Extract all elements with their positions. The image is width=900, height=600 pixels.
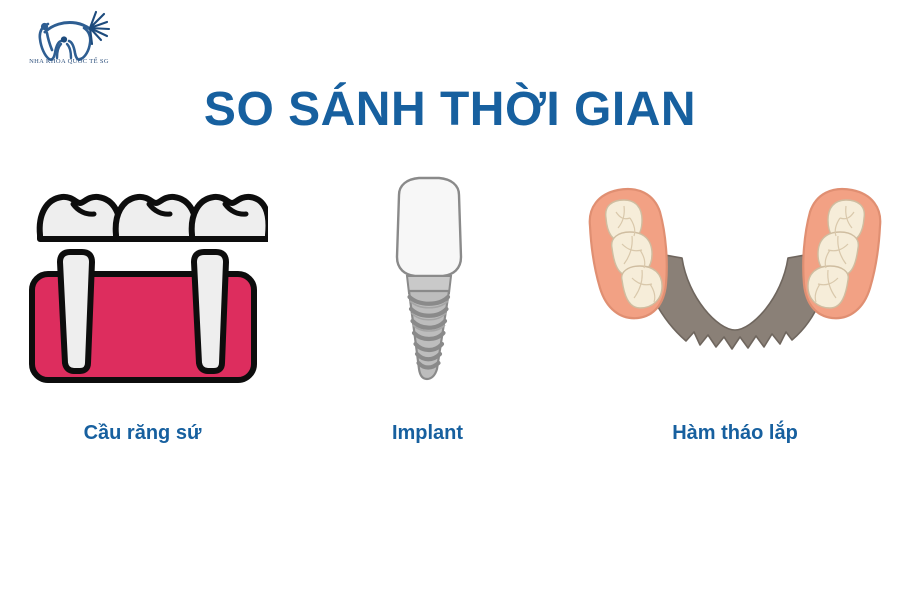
option-label-implant: Implant: [392, 422, 463, 445]
option-removable-denture: Hàm tháo lắp: [570, 160, 900, 490]
brand-logo: NHA KHOA QUỐC TẾ SG: [14, 6, 124, 68]
option-label-dental-bridge: Cầu răng sứ: [84, 422, 202, 445]
dental-tooth-family-logo-icon: [14, 6, 124, 62]
option-dental-bridge: Cầu răng sứ: [0, 160, 285, 490]
brand-name: NHA KHOA QUỐC TẾ SG: [14, 58, 124, 65]
implant-crown: [397, 178, 461, 276]
dental-bridge-illustration: [18, 160, 268, 400]
dental-bridge-icon: [18, 173, 268, 388]
comparison-columns: Cầu răng sứ: [0, 160, 900, 490]
option-implant: Implant: [285, 160, 570, 490]
removable-denture-icon: [570, 180, 900, 380]
tooth-root-left: [60, 252, 92, 371]
removable-denture-illustration: [570, 160, 900, 400]
dental-implant-icon: [363, 173, 493, 388]
dental-implant-illustration: [363, 160, 493, 400]
infographic-canvas: NHA KHOA QUỐC TẾ SG SO SÁNH THỜI GIAN: [0, 0, 900, 600]
page-title: SO SÁNH THỜI GIAN: [0, 84, 900, 137]
tooth-root-right: [194, 252, 226, 371]
denture-metal-framework: [642, 248, 829, 349]
option-label-removable-denture: Hàm tháo lắp: [672, 422, 798, 445]
